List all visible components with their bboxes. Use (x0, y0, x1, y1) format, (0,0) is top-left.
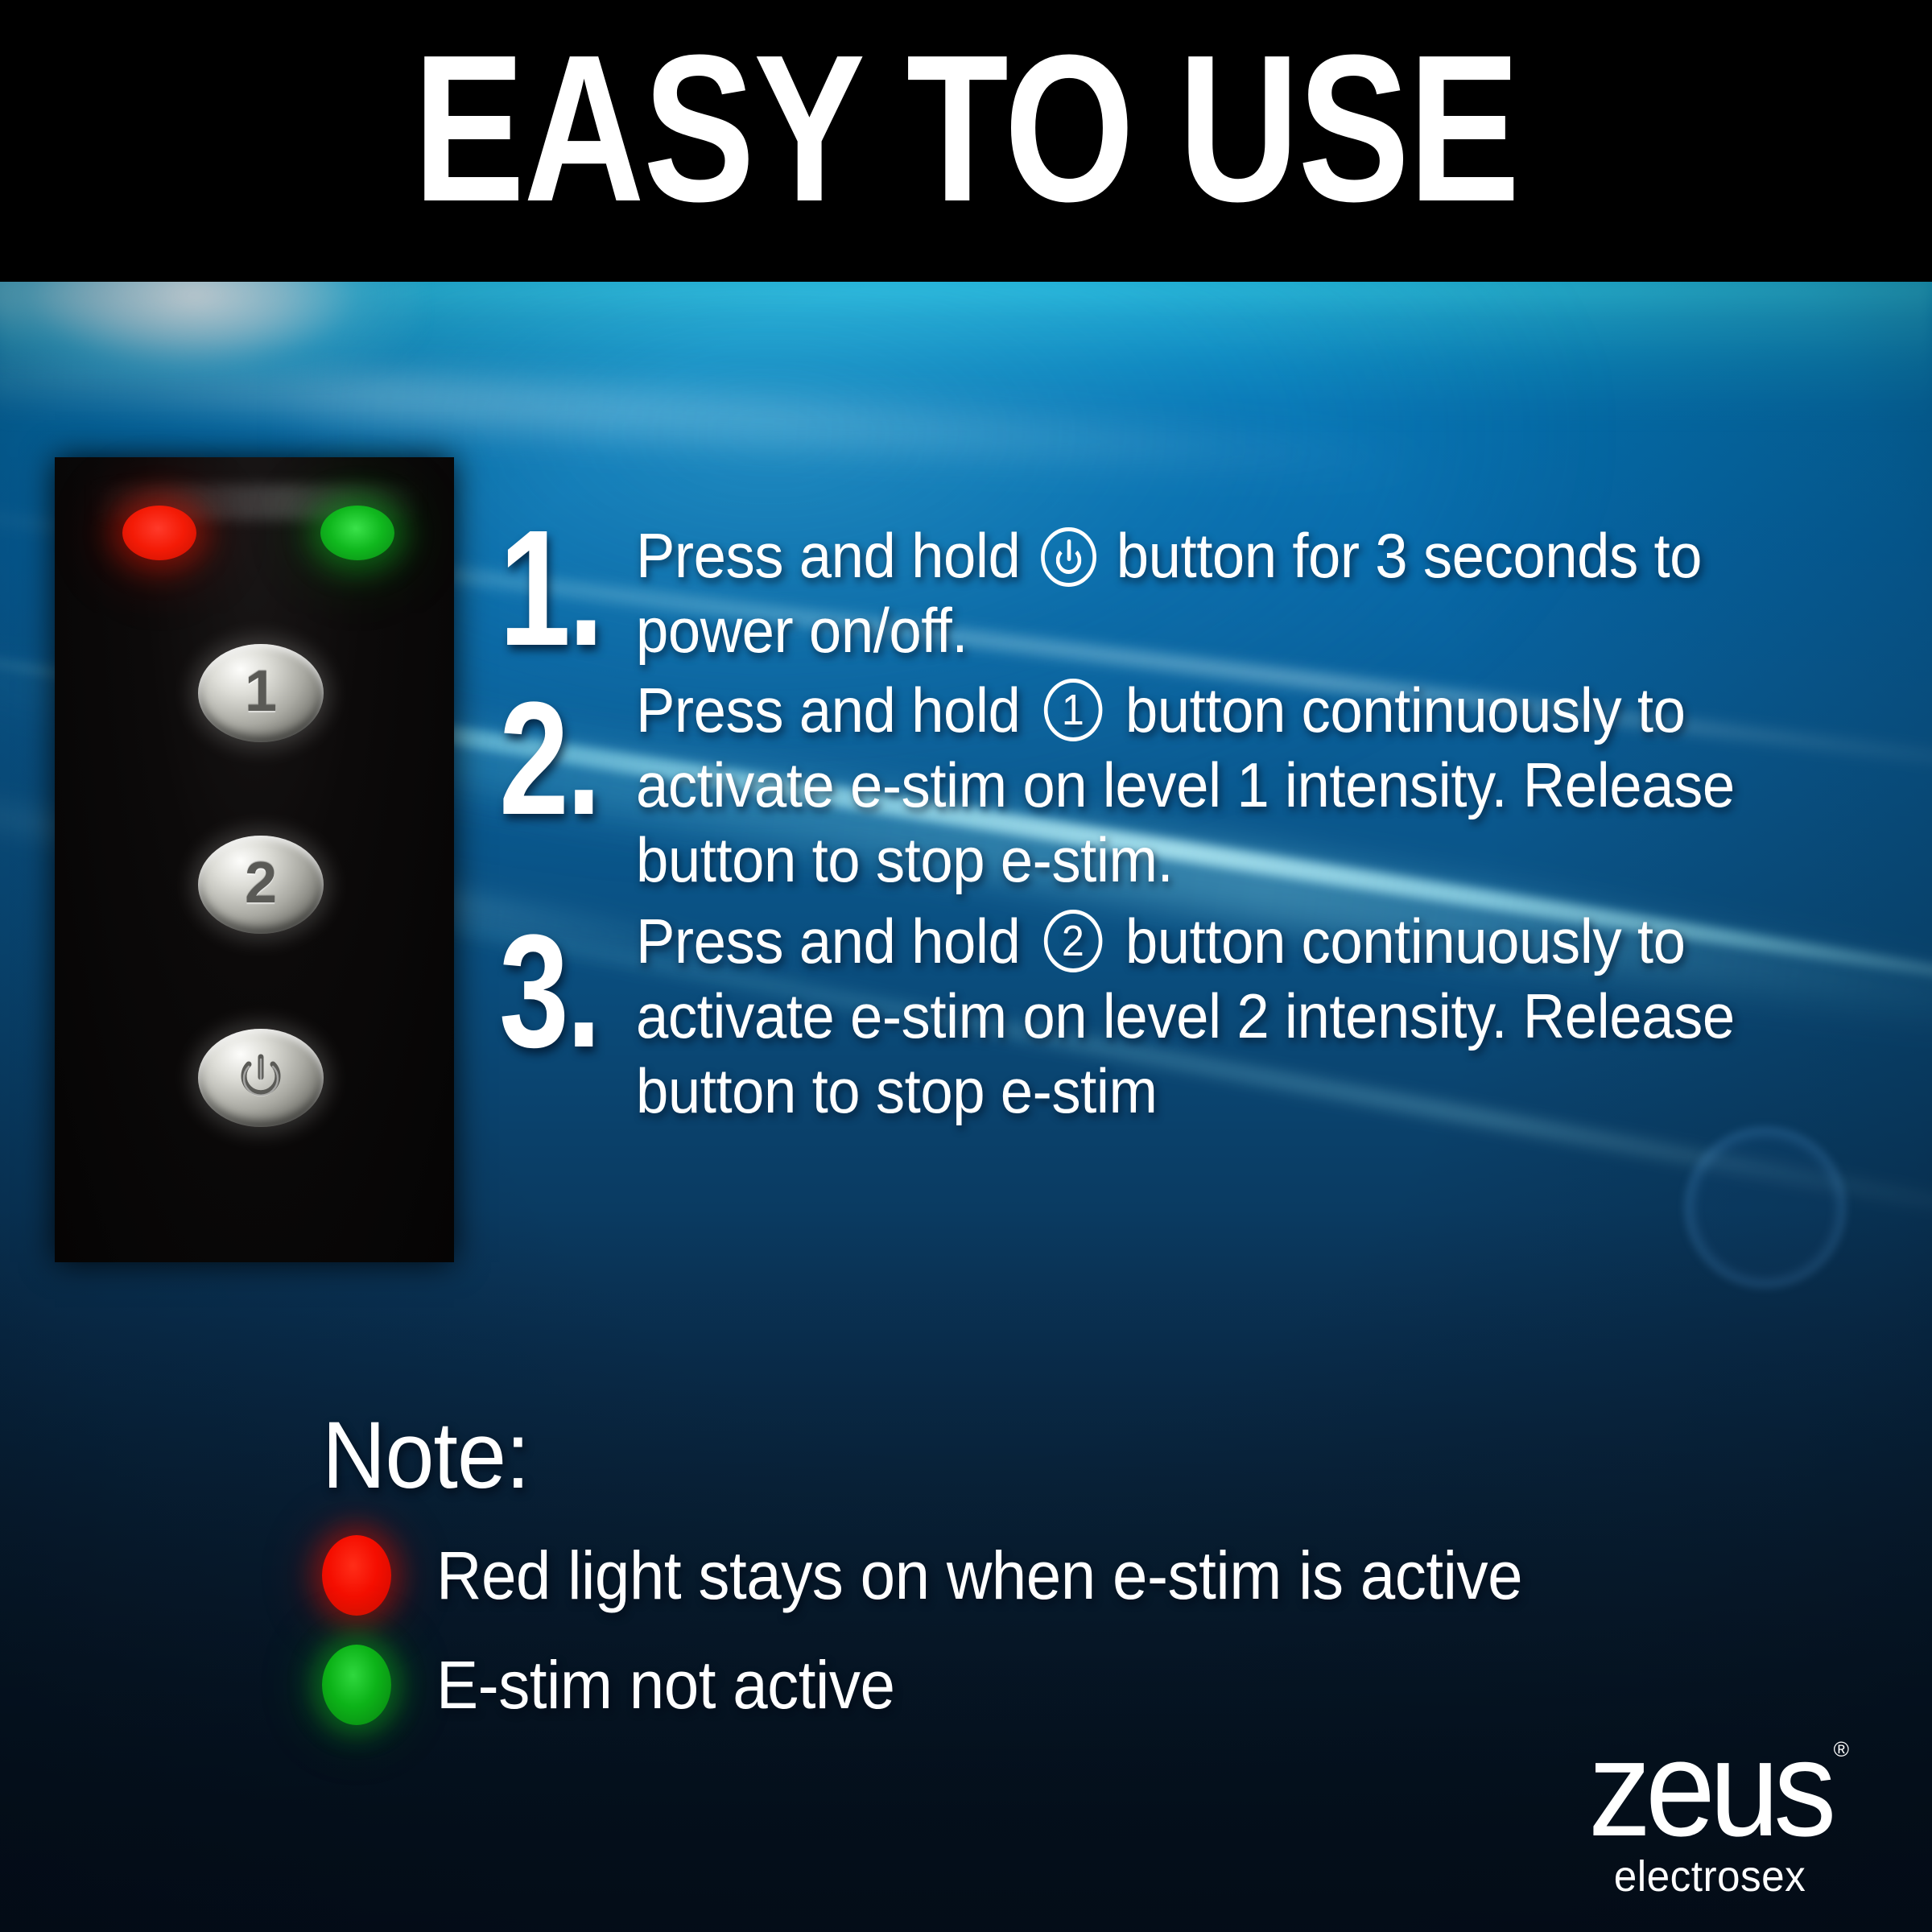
red-led-icon (322, 1535, 391, 1616)
green-led (320, 506, 394, 560)
note-title: Note: (322, 1405, 1744, 1506)
instruction-steps: 1. Press and hold button for 3 seconds t… (499, 515, 1916, 1140)
step-1-text-before: Press and hold (636, 520, 1020, 591)
button-1-label: 1 (245, 663, 277, 720)
step-3-text: Press and hold 2 button continuously to … (636, 904, 1827, 1129)
title-band: EASY TO USE (0, 0, 1932, 282)
note-row-red-text: Red light stays on when e-stim is active (436, 1538, 1522, 1612)
power-icon (1041, 527, 1096, 587)
step-2: 2. Press and hold 1 button continuously … (499, 673, 1916, 898)
registered-trademark-icon: ® (1834, 1739, 1849, 1760)
step-2-text: Press and hold 1 button continuously to … (636, 673, 1827, 898)
power-icon-bar (1067, 539, 1071, 561)
green-led-icon (322, 1645, 391, 1725)
step-2-number: 2. (499, 673, 606, 834)
button-1[interactable]: 1 (198, 644, 324, 742)
poster-root: EASY TO USE 1 2 (0, 0, 1932, 1932)
power-button[interactable] (198, 1029, 324, 1127)
logo-wordmark: zeus ® (1589, 1728, 1831, 1850)
logo-subtitle: electrosex (1542, 1853, 1878, 1900)
step-2-text-before: Press and hold (636, 675, 1020, 745)
power-icon (231, 1046, 291, 1110)
circled-1-icon: 1 (1043, 679, 1102, 741)
button-2[interactable]: 2 (198, 836, 324, 934)
page-title: EASY TO USE (193, 19, 1739, 238)
button-2-label: 2 (245, 854, 277, 912)
brand-logo: zeus ® electrosex (1533, 1728, 1887, 1900)
step-3: 3. Press and hold 2 button continuously … (499, 904, 1916, 1129)
note-section: Note: Red light stays on when e-stim is … (322, 1405, 1851, 1725)
step-3-number: 3. (499, 904, 606, 1067)
step-3-text-before: Press and hold (636, 906, 1020, 976)
control-panel: 1 2 (55, 457, 454, 1262)
step-1: 1. Press and hold button for 3 seconds t… (499, 515, 1916, 668)
logo-wordmark-text: zeus (1589, 1712, 1831, 1865)
step-1-text: Press and hold button for 3 seconds to p… (636, 515, 1827, 668)
circled-2-icon: 2 (1043, 910, 1102, 972)
step-1-number: 1. (499, 515, 606, 662)
red-led (122, 506, 196, 560)
note-row-green-text: E-stim not active (436, 1648, 894, 1722)
note-row-red: Red light stays on when e-stim is active (322, 1535, 1851, 1616)
